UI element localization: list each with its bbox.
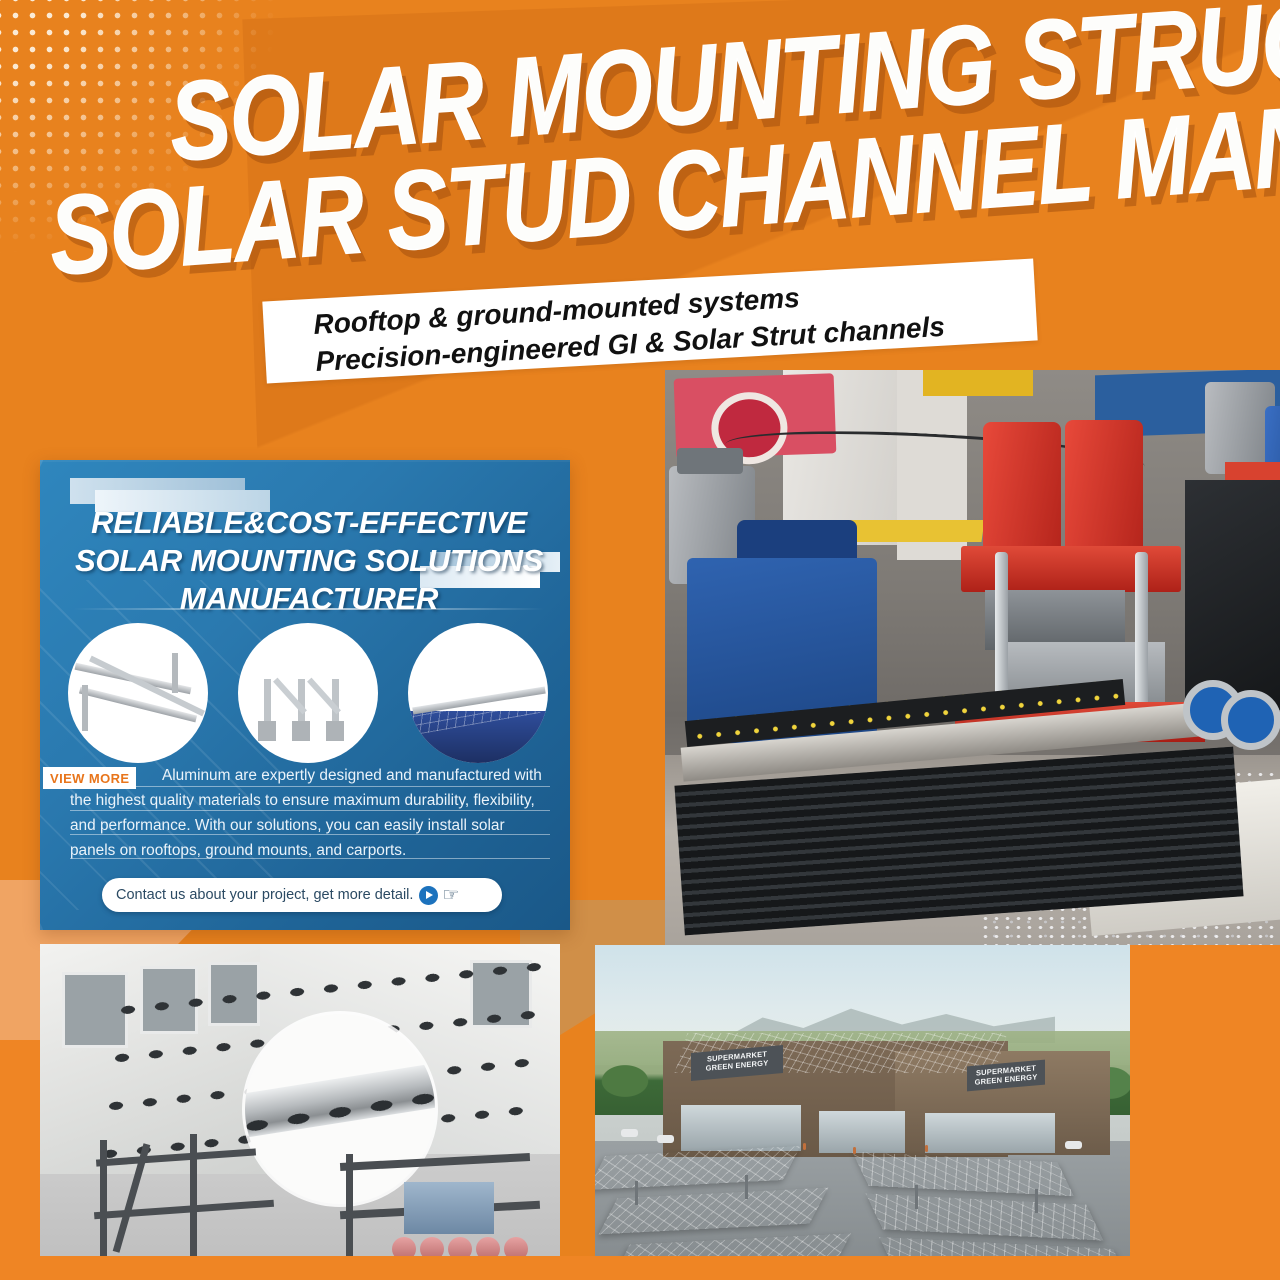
machine-blue-housing [404,1182,494,1234]
hydraulic-cylinder-2 [1065,420,1143,552]
banner-root: SOLAR MOUNTING STRUCTURES SOLAR STUD CHA… [0,0,1280,1280]
pedestrian-2 [853,1147,856,1154]
storefront-glass-1 [681,1105,801,1151]
handwheel-blue-2 [1221,690,1280,750]
parked-car-1 [621,1129,638,1137]
canopy-post-3 [915,1185,918,1209]
ground-foot-1 [258,721,276,741]
canopy-post-2 [745,1175,748,1199]
motor-cap-left [677,448,743,474]
card-title: RELIABLE&COST-EFFECTIVE SOLAR MOUNTING S… [62,504,556,617]
magnifier-circle-inset [245,1014,435,1204]
machine-dark-cabinet [1185,480,1280,710]
card-title-line-3: MANUFACTURER [62,580,556,618]
ground-foot-2 [292,721,310,741]
machine-frame-post [346,1154,353,1262]
canopy-post-1 [635,1181,638,1205]
pedestrian-3 [925,1145,928,1152]
rack-post-1 [100,1140,107,1258]
right-orange-strip [1130,945,1280,1280]
product-circle-ground-mount-array[interactable] [238,623,378,763]
storefront-glass-2 [819,1111,905,1153]
ground-leg-1 [264,679,271,725]
pedestrian-1 [803,1143,806,1150]
card-title-line-2: SOLAR MOUNTING SOLUTIONS [62,542,556,580]
headline-group: SOLAR MOUNTING STRUCTURES SOLAR STUD CHA… [0,36,1280,296]
parked-car-3 [1065,1141,1082,1149]
storefront-glass-3 [925,1113,1055,1153]
photo-roll-forming-machine [665,370,1280,945]
parked-car-2 [657,1135,674,1143]
product-circle-group [68,620,548,765]
hand-pointer-icon: ☞ [442,886,459,905]
bottom-orange-strip [0,1256,1280,1280]
card-body-text: Aluminum are expertly designed and manuf… [70,763,550,865]
mount-leg-1 [82,685,88,731]
photo-solar-carport-render: SUPERMARKET GREEN ENERGY SUPERMARKET GRE… [595,945,1130,1280]
product-circle-flat-roof-ballast-mount[interactable] [408,623,548,763]
photo-strut-channel-stack [40,944,560,1280]
solar-mounting-solutions-card[interactable]: RELIABLE&COST-EFFECTIVE SOLAR MOUNTING S… [40,460,570,930]
product-circle-rooftop-rail-mount[interactable] [68,623,208,763]
overhead-crane-yellow [923,370,1033,396]
ground-foot-3 [326,721,344,741]
card-divider [74,608,544,610]
play-circle-icon[interactable] [419,886,438,905]
contact-cta-label: Contact us about your project, get more … [116,887,413,903]
mount-leg-2 [172,653,178,693]
canopy-post-4 [1035,1189,1038,1213]
card-title-line-1: RELIABLE&COST-EFFECTIVE [62,504,556,542]
contact-cta-bar[interactable]: Contact us about your project, get more … [102,878,502,912]
press-top-plate-red [961,546,1181,592]
hydraulic-cylinder-1 [983,422,1061,552]
view-more-badge[interactable]: VIEW MORE [43,767,136,789]
